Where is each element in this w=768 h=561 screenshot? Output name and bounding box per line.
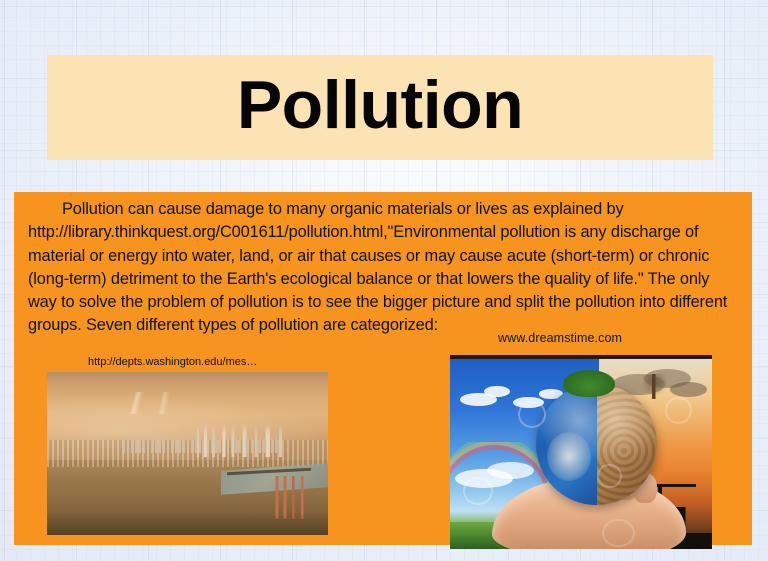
green-tree-on-globe (563, 370, 615, 397)
watermark-swirl (665, 397, 693, 424)
smoggy-city-photo (47, 372, 328, 535)
smoke-cloud (670, 382, 707, 397)
dead-tree-on-globe (639, 374, 670, 399)
left-image-caption: http://depts.washington.edu/mes… (88, 356, 257, 368)
right-image-credit: www.dreamstime.com (498, 331, 622, 345)
downtown-skyline (193, 424, 294, 457)
content-panel: Pollution can cause damage to many organ… (14, 192, 752, 545)
body-paragraph: Pollution can cause damage to many organ… (28, 198, 738, 338)
foreground-shadow (47, 512, 328, 535)
watermark-swirl (602, 519, 635, 548)
page-title: Pollution (237, 71, 523, 145)
globe-clean-half (536, 384, 596, 506)
split-earth-photo (450, 355, 712, 549)
slide-canvas: Pollution Pollution can cause damage to … (0, 0, 768, 561)
contrail-streaks (58, 392, 227, 415)
left-photo-figure: http://depts.washington.edu/mes… (33, 356, 328, 537)
watermark-swirl (597, 464, 622, 489)
cloud (487, 462, 534, 479)
split-earth-globe (536, 384, 657, 506)
watermark-swirl (518, 401, 546, 428)
cloud (484, 386, 510, 397)
title-block: Pollution (47, 55, 713, 160)
